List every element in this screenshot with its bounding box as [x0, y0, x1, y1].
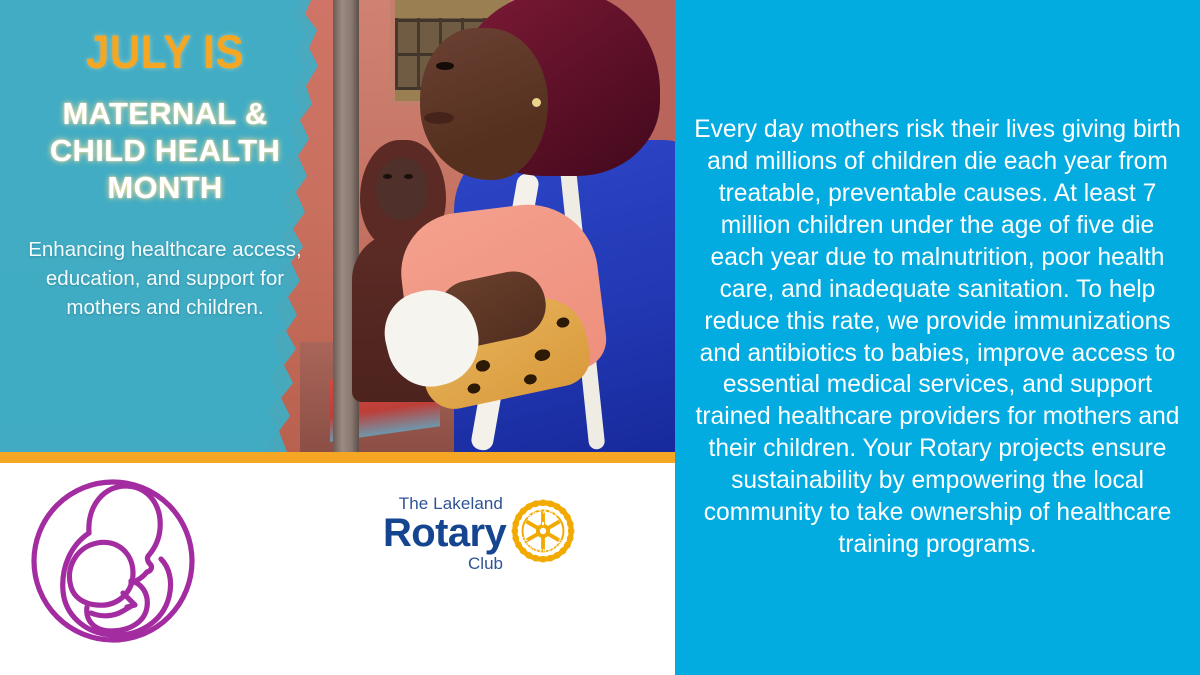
health-worker: [398, 0, 675, 452]
rotary-club-word: Club: [383, 555, 503, 572]
poster-subtitle: Enhancing healthcare access, education, …: [0, 235, 330, 322]
title-line-3: MONTH: [0, 169, 330, 206]
headline-stack: JULY IS MATERNAL & CHILD HEALTH MONTH En…: [0, 0, 330, 322]
health-worker-lips: [424, 112, 454, 124]
health-worker-face: [420, 28, 548, 180]
rotary-wheel-icon: ROTARY INTERNATIONAL: [511, 499, 575, 567]
left-column: JULY IS MATERNAL & CHILD HEALTH MONTH En…: [0, 0, 675, 675]
rotary-wordmark: The Lakeland Rotary Club: [383, 495, 503, 572]
title-line-2: CHILD HEALTH: [0, 132, 330, 169]
photo-band: JULY IS MATERNAL & CHILD HEALTH MONTH En…: [0, 0, 675, 452]
eyebrow-july-is: JULY IS: [17, 28, 314, 75]
poster-title: MATERNAL & CHILD HEALTH MONTH: [0, 95, 330, 207]
mother-and-child-icon: [27, 475, 199, 647]
rotary-word: Rotary: [383, 513, 503, 553]
earring: [532, 98, 541, 107]
title-line-1: MATERNAL &: [0, 95, 330, 132]
rotary-club-logo[interactable]: The Lakeland Rotary Club: [383, 487, 575, 579]
logo-strip: The Lakeland Rotary Club: [0, 463, 675, 675]
rotary-the-lakeland: The Lakeland: [383, 495, 503, 512]
seated-woman-eye-left: [383, 174, 392, 179]
poster-canvas: JULY IS MATERNAL & CHILD HEALTH MONTH En…: [0, 0, 1200, 675]
body-paragraph: Every day mothers risk their lives givin…: [688, 114, 1188, 562]
orange-divider: [0, 452, 675, 463]
health-worker-eye: [436, 62, 454, 70]
right-cyan-panel: Every day mothers risk their lives givin…: [675, 0, 1200, 675]
